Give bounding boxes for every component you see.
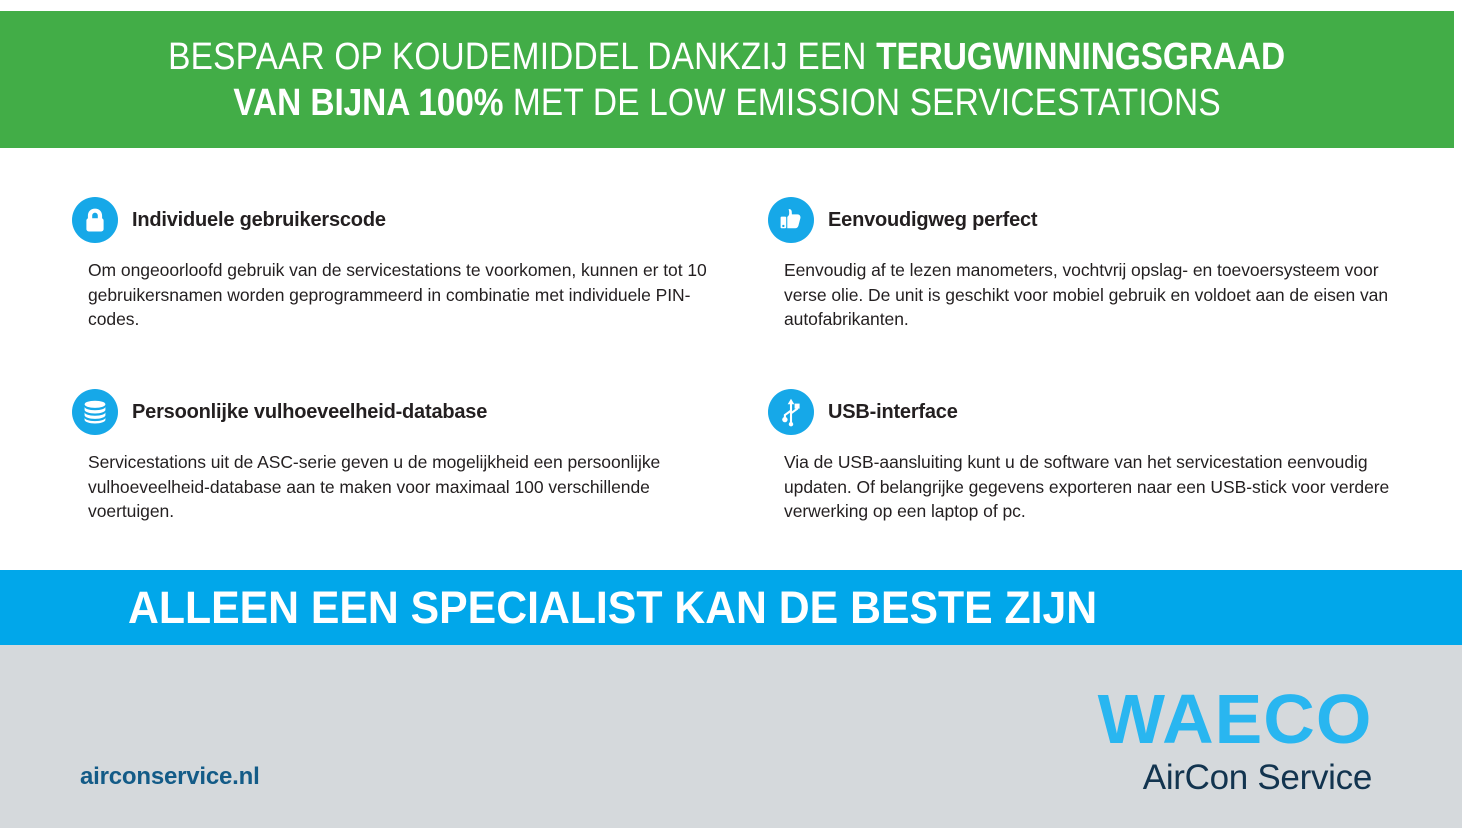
logo-subtitle: AirCon Service — [1103, 758, 1372, 798]
feature-body: Om ongeoorloofd gebruik van de servicest… — [88, 258, 712, 332]
feature-title: USB-interface — [828, 401, 958, 424]
feature-header: Individuele gebruikerscode — [72, 196, 712, 244]
header-line-2-bold: VAN BIJNA 100% — [233, 82, 503, 124]
header-line-1-bold: TERUGWINNINGSGRAAD — [876, 36, 1285, 78]
feature-header: Persoonlijke vulhoeveelheid-database — [72, 388, 712, 436]
feature-body: Eenvoudig af te lezen manometers, vochtv… — [784, 258, 1418, 332]
logo-wordmark: WAECO — [1097, 686, 1372, 752]
usb-icon — [768, 389, 814, 435]
header-line-2: VAN BIJNA 100% MET DE LOW EMISSION SERVI… — [233, 80, 1220, 126]
feature-title: Individuele gebruikerscode — [132, 209, 386, 232]
slogan-text: ALLEEN EEN SPECIALIST KAN DE BESTE ZIJN — [128, 585, 1097, 630]
lock-icon — [72, 197, 118, 243]
feature-item-eenvoudigweg-perfect: Eenvoudigweg perfect Eenvoudig af te lez… — [768, 196, 1418, 332]
feature-item-individuele-gebruikerscode: Individuele gebruikerscode Om ongeoorloo… — [72, 196, 712, 332]
feature-item-usb-interface: USB-interface Via de USB-aansluiting kun… — [768, 388, 1428, 524]
waeco-logo: WAECO AirCon Service — [1103, 686, 1372, 798]
feature-body: Via de USB-aansluiting kunt u de softwar… — [784, 450, 1428, 524]
header-line-1: BESPAAR OP KOUDEMIDDEL DANKZIJ EEN TERUG… — [169, 34, 1286, 80]
thumbs-up-icon — [768, 197, 814, 243]
feature-title: Eenvoudigweg perfect — [828, 209, 1037, 232]
feature-item-vulhoeveelheid-database: Persoonlijke vulhoeveelheid-database Ser… — [72, 388, 712, 524]
infographic-page: BESPAAR OP KOUDEMIDDEL DANKZIJ EEN TERUG… — [0, 0, 1462, 828]
feature-header: Eenvoudigweg perfect — [768, 196, 1418, 244]
feature-grid: Individuele gebruikerscode Om ongeoorloo… — [0, 185, 1462, 555]
header-line-2-regular: MET DE LOW EMISSION SERVICESTATIONS — [503, 82, 1220, 124]
header-line-1-regular: BESPAAR OP KOUDEMIDDEL DANKZIJ EEN — [169, 36, 877, 78]
feature-header: USB-interface — [768, 388, 1428, 436]
feature-body: Servicestations uit de ASC-serie geven u… — [88, 450, 712, 524]
database-icon — [72, 389, 118, 435]
website-url[interactable]: airconservice.nl — [80, 763, 260, 791]
slogan-banner: ALLEEN EEN SPECIALIST KAN DE BESTE ZIJN — [0, 570, 1462, 645]
header-banner: BESPAAR OP KOUDEMIDDEL DANKZIJ EEN TERUG… — [0, 11, 1454, 148]
feature-title: Persoonlijke vulhoeveelheid-database — [132, 401, 487, 424]
